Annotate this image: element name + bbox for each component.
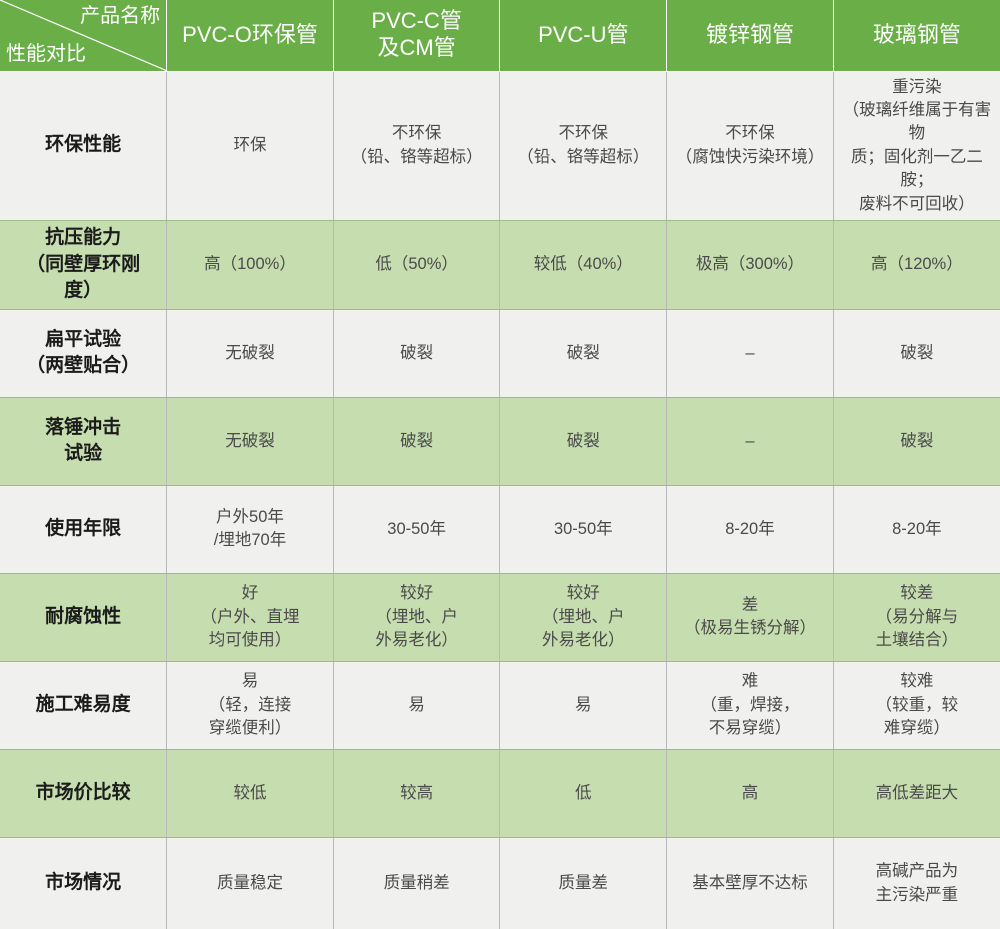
cell-line: （埋地、户 — [341, 606, 493, 629]
table-row: 施工难易度易（轻，连接穿缆便利）易易难（重，焊接，不易穿缆）较难（较重，较难穿缆… — [0, 661, 1000, 749]
row-label-line: 耐腐蚀性 — [6, 604, 160, 631]
cell-line: 30-50年 — [507, 518, 659, 541]
row-label-cell: 市场价比较 — [0, 749, 167, 837]
cell-line: （易分解与 — [841, 606, 993, 629]
table-body: 环保性能环保不环保（铅、铬等超标）不环保（铅、铬等超标）不环保（腐蚀快污染环境）… — [0, 71, 1000, 929]
cell-line: 不环保 — [674, 122, 826, 145]
data-cell: 高 — [667, 749, 834, 837]
row-label-cell: 耐腐蚀性 — [0, 573, 167, 661]
cell-line: 基本壁厚不达标 — [674, 872, 826, 895]
cell-line: 8-20年 — [841, 518, 993, 541]
table-row: 落锤冲击试验无破裂破裂破裂–破裂 — [0, 397, 1000, 485]
column-header-frp: 玻璃钢管 — [833, 0, 1000, 71]
data-cell: 质量差 — [500, 837, 667, 929]
data-cell: 低（50%） — [333, 221, 500, 310]
cell-line: 差 — [674, 594, 826, 617]
data-cell: 较好（埋地、户外易老化） — [500, 573, 667, 661]
row-label-cell: 施工难易度 — [0, 661, 167, 749]
cell-line: 高低差距大 — [841, 782, 993, 805]
cell-line: 户外50年 — [174, 506, 326, 529]
data-cell: 较好（埋地、户外易老化） — [333, 573, 500, 661]
row-label-line: 施工难易度 — [6, 692, 160, 719]
data-cell: 环保 — [167, 71, 334, 221]
data-cell: 破裂 — [833, 309, 1000, 397]
header-line: PVC-U管 — [504, 22, 662, 49]
cell-line: 易 — [507, 694, 659, 717]
cell-line: （铅、铬等超标） — [507, 146, 659, 169]
cell-line: 不环保 — [341, 122, 493, 145]
cell-line: 穿缆便利） — [174, 717, 326, 740]
cell-line: 较好 — [341, 582, 493, 605]
cell-line: – — [674, 430, 826, 453]
data-cell: 无破裂 — [167, 309, 334, 397]
cell-line: 极高（300%） — [674, 253, 826, 276]
data-cell: 质量稍差 — [333, 837, 500, 929]
data-cell: 难（重，焊接，不易穿缆） — [667, 661, 834, 749]
table-row: 市场价比较较低较高低高高低差距大 — [0, 749, 1000, 837]
cell-line: 难穿缆） — [841, 717, 993, 740]
data-cell: 高低差距大 — [833, 749, 1000, 837]
data-cell: 破裂 — [333, 397, 500, 485]
header-line: PVC-O环保管 — [171, 22, 329, 49]
header-line: 镀锌钢管 — [671, 22, 829, 49]
cell-line: （腐蚀快污染环境） — [674, 146, 826, 169]
product-comparison-table: 产品名称 性能对比 PVC-O环保管 PVC-C管 及CM管 PVC-U管 镀锌… — [0, 0, 1000, 929]
row-label-cell: 环保性能 — [0, 71, 167, 221]
data-cell: 好（户外、直埋均可使用） — [167, 573, 334, 661]
cell-line: 无破裂 — [174, 342, 326, 365]
cell-line: 环保 — [174, 134, 326, 157]
data-cell: 易 — [333, 661, 500, 749]
data-cell: 破裂 — [500, 397, 667, 485]
cell-line: 质；固化剂一乙二胺； — [841, 146, 993, 193]
row-label-line: 市场情况 — [6, 870, 160, 897]
data-cell: 较差（易分解与土壤结合） — [833, 573, 1000, 661]
cell-line: 外易老化） — [341, 629, 493, 652]
row-label-line: 度） — [6, 278, 160, 305]
row-label-line: （两壁贴合） — [6, 353, 160, 380]
data-cell: 不环保（腐蚀快污染环境） — [667, 71, 834, 221]
cell-line: （玻璃纤维属于有害物 — [841, 99, 993, 146]
row-label-line: 市场价比较 — [6, 780, 160, 807]
cell-line: （轻，连接 — [174, 694, 326, 717]
cell-line: 无破裂 — [174, 430, 326, 453]
cell-line: 质量差 — [507, 872, 659, 895]
cell-line: 难 — [674, 670, 826, 693]
table-row: 市场情况质量稳定质量稍差质量差基本壁厚不达标高碱产品为主污染严重 — [0, 837, 1000, 929]
cell-line: 低 — [507, 782, 659, 805]
cell-line: 较差 — [841, 582, 993, 605]
data-cell: 较难（较重，较难穿缆） — [833, 661, 1000, 749]
data-cell: 破裂 — [333, 309, 500, 397]
cell-line: 破裂 — [507, 342, 659, 365]
row-label-line: 环保性能 — [6, 132, 160, 159]
table-row: 扁平试验（两壁贴合）无破裂破裂破裂–破裂 — [0, 309, 1000, 397]
data-cell: 30-50年 — [333, 485, 500, 573]
cell-line: 较好 — [507, 582, 659, 605]
cell-line: 土壤结合） — [841, 629, 993, 652]
cell-line: （较重，较 — [841, 694, 993, 717]
cell-line: /埋地70年 — [174, 529, 326, 552]
cell-line: 不易穿缆） — [674, 717, 826, 740]
table-row: 抗压能力（同壁厚环刚度）高（100%）低（50%）较低（40%）极高（300%）… — [0, 221, 1000, 310]
column-header-pvc-u: PVC-U管 — [500, 0, 667, 71]
row-label-line: 抗压能力 — [6, 225, 160, 252]
data-cell: 易（轻，连接穿缆便利） — [167, 661, 334, 749]
cell-line: 主污染严重 — [841, 884, 993, 907]
cell-line: 较低 — [174, 782, 326, 805]
cell-line: 破裂 — [841, 430, 993, 453]
data-cell: 低 — [500, 749, 667, 837]
cell-line: （铅、铬等超标） — [341, 146, 493, 169]
row-label-line: 试验 — [6, 441, 160, 468]
header-line: 玻璃钢管 — [838, 22, 996, 49]
cell-line: 30-50年 — [341, 518, 493, 541]
cell-line: 较难 — [841, 670, 993, 693]
cell-line: 较高 — [341, 782, 493, 805]
data-cell: 极高（300%） — [667, 221, 834, 310]
row-label-cell: 扁平试验（两壁贴合） — [0, 309, 167, 397]
table-row: 环保性能环保不环保（铅、铬等超标）不环保（铅、铬等超标）不环保（腐蚀快污染环境）… — [0, 71, 1000, 221]
cell-line: 破裂 — [507, 430, 659, 453]
data-cell: 较高 — [333, 749, 500, 837]
cell-line: 质量稳定 — [174, 872, 326, 895]
row-label-cell: 抗压能力（同壁厚环刚度） — [0, 221, 167, 310]
cell-line: （埋地、户 — [507, 606, 659, 629]
column-header-pvc-c: PVC-C管 及CM管 — [333, 0, 500, 71]
cell-line: 8-20年 — [674, 518, 826, 541]
header-line: 及CM管 — [338, 35, 496, 62]
column-header-galvanized-steel: 镀锌钢管 — [667, 0, 834, 71]
data-cell: 较低（40%） — [500, 221, 667, 310]
corner-bottom-label: 性能对比 — [6, 42, 86, 66]
cell-line: （重，焊接， — [674, 694, 826, 717]
cell-line: 破裂 — [841, 342, 993, 365]
data-cell: 无破裂 — [167, 397, 334, 485]
data-cell: 8-20年 — [667, 485, 834, 573]
cell-line: 废料不可回收） — [841, 193, 993, 216]
cell-line: （极易生锈分解） — [674, 617, 826, 640]
cell-line: （户外、直埋 — [174, 606, 326, 629]
header-row: 产品名称 性能对比 PVC-O环保管 PVC-C管 及CM管 PVC-U管 镀锌… — [0, 0, 1000, 71]
row-label-line: （同壁厚环刚 — [6, 252, 160, 279]
table-header: 产品名称 性能对比 PVC-O环保管 PVC-C管 及CM管 PVC-U管 镀锌… — [0, 0, 1000, 71]
data-cell: 不环保（铅、铬等超标） — [500, 71, 667, 221]
data-cell: 户外50年/埋地70年 — [167, 485, 334, 573]
corner-top-label: 产品名称 — [80, 4, 160, 28]
cell-line: 好 — [174, 582, 326, 605]
data-cell: 差（极易生锈分解） — [667, 573, 834, 661]
row-label-line: 落锤冲击 — [6, 415, 160, 442]
cell-line: 重污染 — [841, 76, 993, 99]
cell-line: 高碱产品为 — [841, 860, 993, 883]
cell-line: – — [674, 342, 826, 365]
cell-line: 不环保 — [507, 122, 659, 145]
data-cell: 重污染（玻璃纤维属于有害物质；固化剂一乙二胺；废料不可回收） — [833, 71, 1000, 221]
cell-line: 高（100%） — [174, 253, 326, 276]
row-label-line: 使用年限 — [6, 516, 160, 543]
corner-header-cell: 产品名称 性能对比 — [0, 0, 167, 71]
data-cell: 8-20年 — [833, 485, 1000, 573]
row-label-line: 扁平试验 — [6, 327, 160, 354]
row-label-cell: 使用年限 — [0, 485, 167, 573]
cell-line: 高（120%） — [841, 253, 993, 276]
row-label-cell: 市场情况 — [0, 837, 167, 929]
cell-line: 较低（40%） — [507, 253, 659, 276]
data-cell: 较低 — [167, 749, 334, 837]
data-cell: – — [667, 309, 834, 397]
cell-line: 破裂 — [341, 430, 493, 453]
data-cell: 30-50年 — [500, 485, 667, 573]
table-row: 使用年限户外50年/埋地70年30-50年30-50年8-20年8-20年 — [0, 485, 1000, 573]
cell-line: 易 — [341, 694, 493, 717]
table-row: 耐腐蚀性好（户外、直埋均可使用）较好（埋地、户外易老化）较好（埋地、户外易老化）… — [0, 573, 1000, 661]
cell-line: 质量稍差 — [341, 872, 493, 895]
data-cell: 高（120%） — [833, 221, 1000, 310]
row-label-cell: 落锤冲击试验 — [0, 397, 167, 485]
data-cell: 高碱产品为主污染严重 — [833, 837, 1000, 929]
cell-line: 易 — [174, 670, 326, 693]
header-line: PVC-C管 — [338, 8, 496, 35]
data-cell: 高（100%） — [167, 221, 334, 310]
data-cell: 不环保（铅、铬等超标） — [333, 71, 500, 221]
cell-line: 低（50%） — [341, 253, 493, 276]
data-cell: – — [667, 397, 834, 485]
data-cell: 基本壁厚不达标 — [667, 837, 834, 929]
cell-line: 外易老化） — [507, 629, 659, 652]
cell-line: 破裂 — [341, 342, 493, 365]
data-cell: 破裂 — [833, 397, 1000, 485]
cell-line: 高 — [674, 782, 826, 805]
data-cell: 易 — [500, 661, 667, 749]
cell-line: 均可使用） — [174, 629, 326, 652]
column-header-pvc-o: PVC-O环保管 — [167, 0, 334, 71]
data-cell: 质量稳定 — [167, 837, 334, 929]
data-cell: 破裂 — [500, 309, 667, 397]
